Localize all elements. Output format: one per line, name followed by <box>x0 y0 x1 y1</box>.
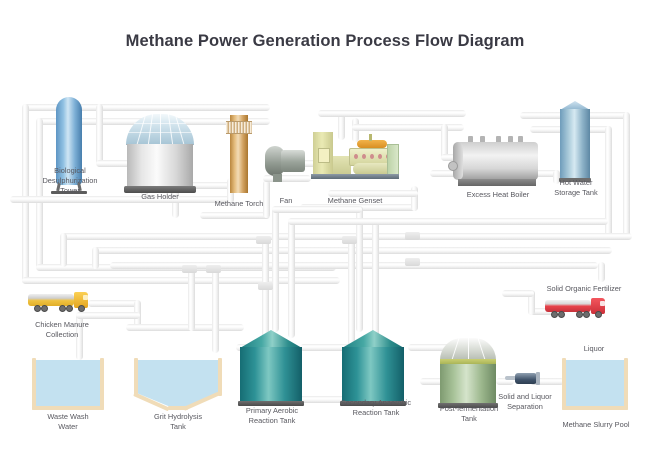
separator-body <box>515 373 537 384</box>
label-fan: Fan <box>266 196 306 206</box>
pipe-segment <box>272 206 362 213</box>
pool-wall-right <box>218 358 222 396</box>
secondary-anaerobic-reaction-tank[interactable] <box>342 330 404 408</box>
label-secondary-anaerobic-reaction-tank: Secondary Anaerobic Reaction Tank <box>330 398 422 418</box>
pipe-segment <box>318 110 466 117</box>
genset-skid-base <box>311 174 399 179</box>
pipe-segment <box>212 269 219 353</box>
label-methane-slurry-pool: Methane Slurry Pool <box>548 420 644 430</box>
reaction-tank-shell <box>240 347 302 402</box>
boiler-base <box>458 179 536 186</box>
pipe-segment <box>92 247 99 269</box>
fertilizer-truck-tank <box>545 300 591 312</box>
manure-truck-window <box>83 295 88 300</box>
label-biological-desulphurization-tower: Biological Desulphurization Tower <box>24 166 116 196</box>
torch-flare-ring <box>226 121 252 134</box>
label-liquor: Liquor <box>556 344 632 354</box>
pipe-segment <box>200 212 270 219</box>
boiler-shell <box>456 142 538 180</box>
methane-slurry-pool[interactable] <box>562 358 628 410</box>
label-methane-genset: Methane Genset <box>312 196 398 206</box>
pool-wall-left <box>562 358 566 410</box>
truck-wheel <box>595 311 602 318</box>
pipe-segment <box>598 262 605 282</box>
page-title: Methane Power Generation Process Flow Di… <box>0 32 650 51</box>
pipe-tee-fitting <box>405 258 420 266</box>
truck-wheel <box>551 311 558 318</box>
solid-organic-fertilizer[interactable] <box>545 298 613 320</box>
pipe-tee-fitting <box>405 232 420 240</box>
fertilizer-truck-window <box>600 301 605 306</box>
grit-hydrolysis-tank[interactable] <box>134 358 222 410</box>
label-methane-torch: Methane Torch <box>203 199 275 209</box>
label-solid-organic-fertilizer: Solid Organic Fertilizer <box>522 284 646 294</box>
hot-water-tank-shell <box>560 109 590 179</box>
pipe-segment <box>188 269 195 331</box>
truck-wheel <box>41 305 48 312</box>
pipe-tee-fitting <box>342 236 357 244</box>
pipe-tee-fitting <box>258 282 273 290</box>
pipe-segment <box>126 324 244 331</box>
genset-stack <box>369 134 372 141</box>
pipe-segment <box>60 233 67 267</box>
primary-aerobic-reaction-tank[interactable] <box>240 330 302 408</box>
reaction-tank-roof <box>342 330 404 348</box>
pool-wall-bottom <box>168 406 188 410</box>
waste-wash-water[interactable] <box>32 358 104 410</box>
pipe-segment <box>372 218 379 338</box>
pipe-segment <box>288 218 295 338</box>
reaction-tank-shell <box>342 347 404 402</box>
pipe-segment <box>288 218 608 225</box>
hot-water-storage-tank[interactable] <box>560 101 590 183</box>
gas-holder[interactable] <box>126 114 194 194</box>
pipe-segment <box>272 206 279 332</box>
label-primary-aerobic-reaction-tank: Primary Aerobic Reaction Tank <box>232 406 312 426</box>
label-grit-hydrolysis-tank: Grit Hydrolysis Tank <box>134 412 222 432</box>
label-waste-wash-water: Waste Wash Water <box>30 412 106 432</box>
pool-wall-left <box>134 358 138 396</box>
truck-wheel <box>66 305 73 312</box>
gas-holder-body <box>127 144 193 186</box>
boiler-valve <box>448 161 458 171</box>
label-gas-holder: Gas Holder <box>118 192 202 202</box>
label-chicken-manure-collection: Chicken Manure Collection <box>18 320 106 340</box>
label-excess-heat-boiler: Excess Heat Boiler <box>450 190 546 200</box>
manure-truck-tank <box>28 294 74 306</box>
pipe-tee-fitting <box>206 265 221 273</box>
excess-heat-boiler[interactable] <box>456 134 538 188</box>
pipe-segment <box>623 112 630 240</box>
pool-wall-bottom <box>32 406 104 410</box>
truck-wheel <box>78 305 85 312</box>
chicken-manure-collection[interactable] <box>28 292 96 314</box>
methane-torch[interactable] <box>230 115 248 195</box>
fan-outlet <box>273 174 282 182</box>
process-flow-diagram-canvas: Methane Power Generation Process Flow Di… <box>0 0 650 459</box>
label-hot-water-storage-tank: Hot Water Storage Tank <box>540 178 612 198</box>
pipe-tee-fitting <box>256 236 271 244</box>
separator-outlet <box>536 372 540 385</box>
genset-radiator <box>387 144 399 177</box>
pool-wall-bottom <box>562 406 628 410</box>
pool-water <box>35 360 101 408</box>
pool-wall-right <box>624 358 628 410</box>
pool-water <box>565 360 625 408</box>
truck-wheel <box>583 311 590 318</box>
methane-genset[interactable] <box>311 130 399 180</box>
truck-wheel <box>34 305 41 312</box>
solid-and-liquor-separation[interactable] <box>505 371 541 387</box>
truck-wheel <box>576 311 583 318</box>
post-ferment-dome <box>440 338 496 360</box>
genset-cabinet-panel <box>318 148 330 163</box>
truck-wheel <box>558 311 565 318</box>
reaction-tank-roof <box>240 330 302 348</box>
pipe-tee-fitting <box>182 265 197 273</box>
pipe-segment <box>96 104 103 166</box>
label-solid-and-liquor-separation: Solid and Liquor Separation <box>486 392 564 412</box>
fan[interactable] <box>265 146 307 184</box>
genset-manifold <box>357 140 387 148</box>
fan-motor <box>281 150 305 172</box>
pool-wall-right <box>100 358 104 410</box>
gas-holder-dome <box>126 114 194 145</box>
truck-wheel <box>59 305 66 312</box>
pool-wall-left <box>32 358 36 410</box>
